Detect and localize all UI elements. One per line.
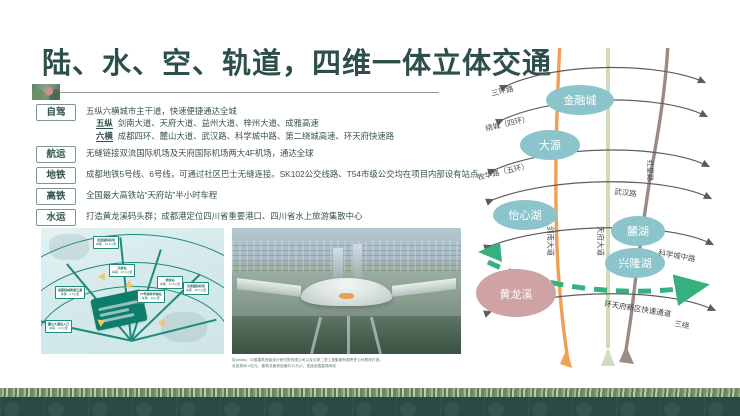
bar-pattern-texture [0, 396, 740, 416]
distance-pill: 双流国际机场 车程：24.7公里 [93, 236, 119, 249]
ring-label: 三环路 [490, 83, 515, 98]
pill-value: 车程：46.7公里 [186, 288, 206, 292]
distance-pill: 天府国际机场 车程：46.7公里 [183, 282, 209, 295]
detail-line-text: 剑南大道、天府大道、益州大道、梓州大道、成雅高速 [118, 118, 319, 128]
node-jinrongcheng: 金融城 [546, 85, 614, 115]
detail-line: 无缝链接双流国际机场及天府国际机场两大4F机场，通达全球 [86, 147, 466, 159]
node-xinglonghu: 兴隆湖 [605, 248, 665, 278]
node-label: 兴隆湖 [619, 256, 652, 270]
list-item: 高铁 全国最大高铁站“天府站”半小时车程 [36, 188, 466, 205]
pill-value: 车程：24.7公里 [96, 242, 116, 246]
node-dayuan: 大源 [520, 130, 580, 160]
pill-value: 车程：3.1公里 [49, 326, 67, 330]
detail-line: 五纵剑南大道、天府大道、益州大道、梓州大道、成雅高速 [86, 117, 466, 129]
ring-label: 牧华路（五环） [476, 160, 529, 182]
vertical-road-label: 天府大道 [596, 226, 606, 256]
express-label: 环天府新区快速通道 [604, 298, 673, 319]
list-item: 地铁 成都地铁5号线、6号线，可通过社区巴士无缝连接。SK102公交线路、T54… [36, 167, 466, 184]
vertical-road-label: 剑南大道 [546, 226, 556, 256]
road-network-diagram: 金融城 大源 怡心湖 麓湖 兴隆湖 黄龙溪 三环 [468, 48, 740, 380]
slide-root: 陆、水、空、轨道，四维一体立体交通 自驾 五纵六横城市主干道，快速便捷通达全城 … [0, 0, 740, 416]
title-divider [44, 92, 439, 93]
node-label: 麓湖 [627, 225, 649, 238]
aerial-road [347, 316, 350, 354]
category-tag: 自驾 [36, 104, 76, 121]
category-tag: 地铁 [36, 167, 76, 184]
pill-value: 车程：4.2公里 [61, 292, 79, 296]
detail-line: 打造黄龙溪码头群；成都港定位四川省重要港口、四川省水上旅游集散中心 [86, 210, 466, 222]
pill-value: 车程：18.1公里 [112, 270, 132, 274]
node-label: 怡心湖 [509, 208, 542, 222]
distance-pill: 成都绕城高速互通 车程：4.2公里 [55, 286, 85, 299]
direction-arrow-icon [97, 320, 106, 328]
list-item: 航运 无缝链接双流国际机场及天府国际机场两大4F机场，通达全球 [36, 146, 466, 163]
ring-label: 三绕 [674, 318, 691, 331]
category-tag: 高铁 [36, 188, 76, 205]
node-label: 大源 [539, 138, 561, 152]
station-render-image [232, 228, 461, 354]
category-tag: 航运 [36, 146, 76, 163]
ring-road-arc [506, 67, 704, 86]
detail-lead: 五纵 [96, 118, 113, 129]
category-detail: 无缝链接双流国际机场及天府国际机场两大4F机场，通达全球 [86, 146, 466, 159]
detail-line: 六横成都四环、麓山大道、武汉路、科学城中路、第二绕城高速、环天府快速路 [86, 130, 466, 142]
transport-list: 自驾 五纵六横城市主干道，快速便捷通达全城 五纵剑南大道、天府大道、益州大道、梓… [36, 104, 466, 230]
list-item: 水运 打造黄龙溪码头群；成都港定位四川省重要港口、四川省水上旅游集散中心 [36, 209, 466, 226]
footer-note-line: 总投资88.5亿元，建筑总面积逾面约12万㎡，连接全国高铁网络 [232, 363, 467, 369]
aerial-cityscape [232, 241, 461, 271]
ring-label: 绕城（四环） [484, 113, 530, 133]
pill-value: 车程：17.6公里 [160, 282, 180, 286]
photo-row: 双流国际机场 车程：24.7公里 天府站 车程：18.1公里 地铁站 车程：17… [41, 228, 461, 354]
vertical-road-label: 红星路 [646, 160, 655, 181]
direction-arrow-icon [124, 279, 133, 287]
detail-line: 全国最大高铁站“天府站”半小时车程 [86, 189, 466, 201]
node-luhu: 麓湖 [611, 216, 665, 246]
pill-value: 车程：12公里 [142, 296, 160, 300]
transit-map-image: 双流国际机场 车程：24.7公里 天府站 车程：18.1公里 地铁站 车程：17… [41, 228, 224, 354]
category-detail: 五纵六横城市主干道，快速便捷通达全城 五纵剑南大道、天府大道、益州大道、梓州大道… [86, 104, 466, 142]
category-detail: 成都地铁5号线、6号线，可通过社区巴士无缝连接。SK102公交线路、T54市级公… [86, 167, 478, 180]
node-label: 金融城 [564, 93, 597, 107]
ring-road-arc [492, 182, 710, 200]
category-detail: 全国最大高铁站“天府站”半小时车程 [86, 188, 466, 201]
ring-label: 武汉路 [614, 186, 638, 198]
bottom-decorative-bar [0, 388, 740, 416]
detail-line: 五纵六横城市主干道，快速便捷通达全城 [86, 105, 466, 117]
distance-pill: 天府站 车程：18.1公里 [109, 264, 135, 277]
category-tag: 水运 [36, 209, 76, 226]
detail-line: 成都地铁5号线、6号线，可通过社区巴士无缝连接。SK102公交线路、T54市级公… [86, 168, 478, 180]
distance-pill: T2号线科学城站 车程：12公里 [137, 290, 165, 303]
footer-note: 自Aedas、中国建筑西南设计研究院有限公司以及中铁二院工程集团有限责任公司联袂… [232, 357, 467, 369]
list-item: 自驾 五纵六横城市主干道，快速便捷通达全城 五纵剑南大道、天府大道、益州大道、梓… [36, 104, 466, 142]
distance-pill: 麓山大道出入口 车程：3.1公里 [45, 320, 72, 333]
node-huanglongxi: 黄龙溪 [476, 269, 556, 317]
category-detail: 打造黄龙溪码头群；成都港定位四川省重要港口、四川省水上旅游集散中心 [86, 209, 466, 222]
detail-line-text: 成都四环、麓山大道、武汉路、科学城中路、第二绕城高速、环天府快速路 [118, 131, 394, 141]
decorative-badge-icon [32, 84, 60, 100]
distance-pill: 地铁站 车程：17.6公里 [157, 276, 183, 289]
detail-lead: 六横 [96, 131, 113, 142]
node-label: 黄龙溪 [500, 287, 533, 301]
